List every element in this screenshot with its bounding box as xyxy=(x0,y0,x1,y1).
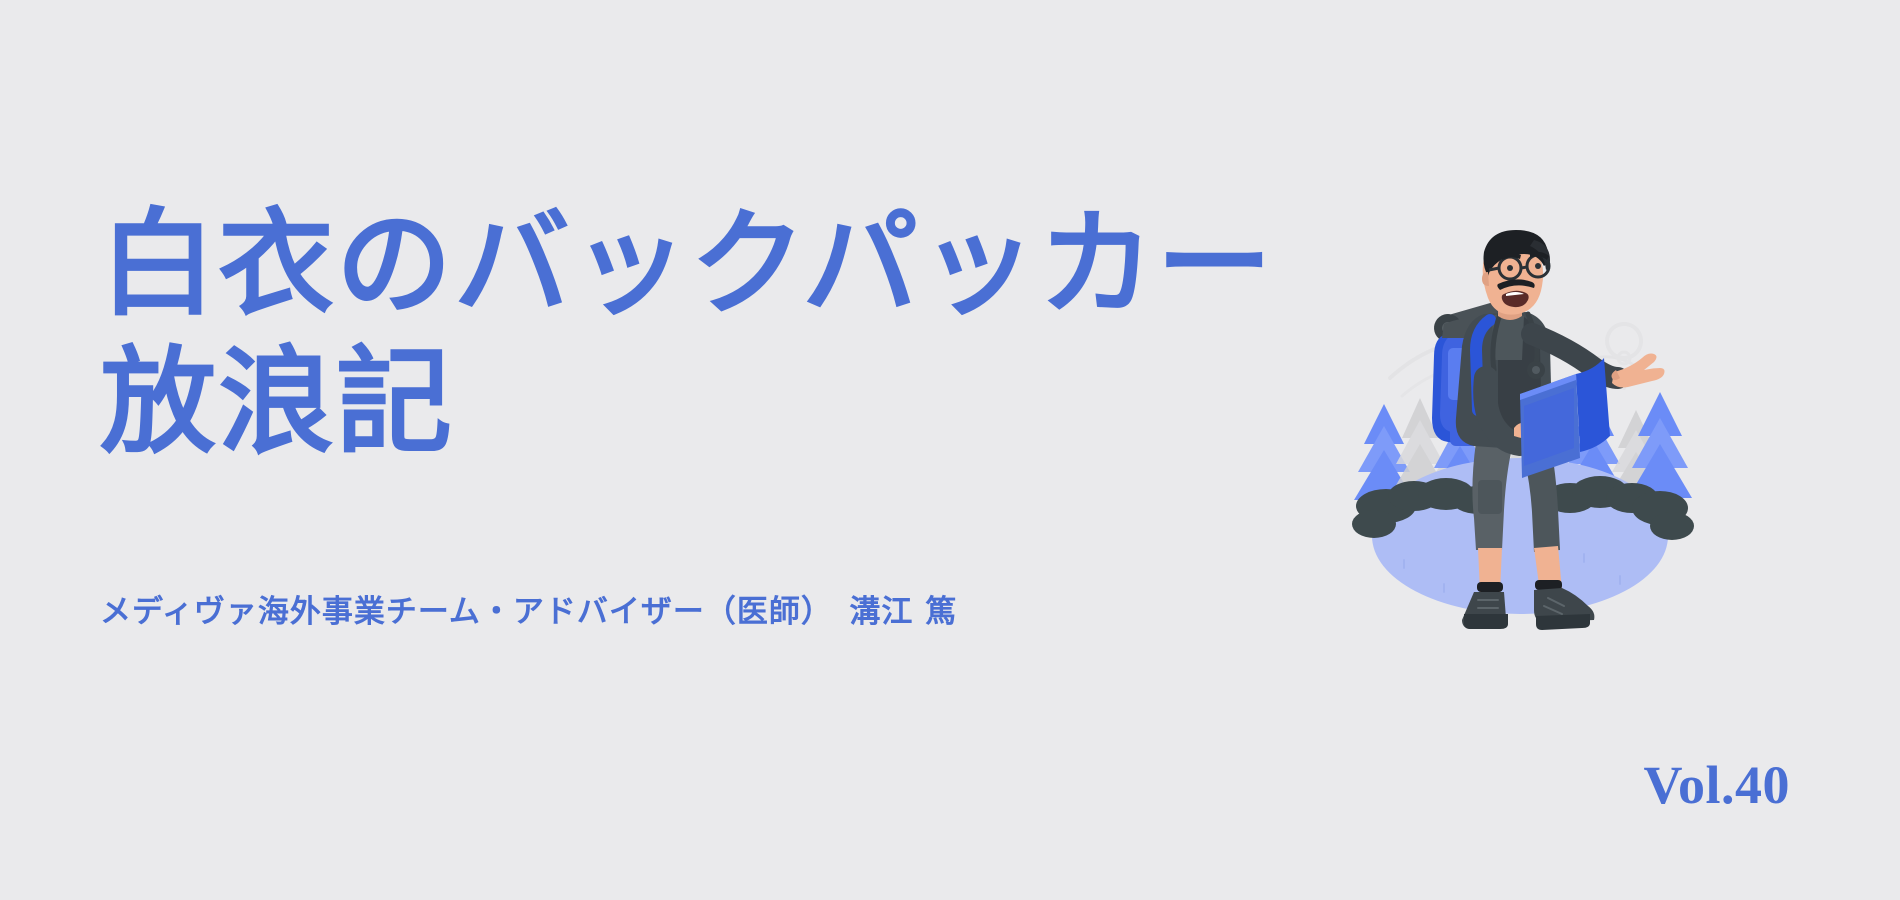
poster-canvas: 白衣のバックパッカー 放浪記 メディヴァ海外事業チーム・アドバイザー（医師） 溝… xyxy=(0,0,1900,900)
volume-number: Vol.40 xyxy=(1600,752,1790,818)
title-line-2: 放浪記 xyxy=(100,333,1300,471)
byline: メディヴァ海外事業チーム・アドバイザー（医師） 溝江 篤 xyxy=(100,592,957,632)
backpacker-doctor-illustration xyxy=(1338,228,1702,632)
page-title: 白衣のバックパッカー 放浪記 xyxy=(100,195,1300,471)
title-line-1: 白衣のバックパッカー xyxy=(100,195,1300,333)
